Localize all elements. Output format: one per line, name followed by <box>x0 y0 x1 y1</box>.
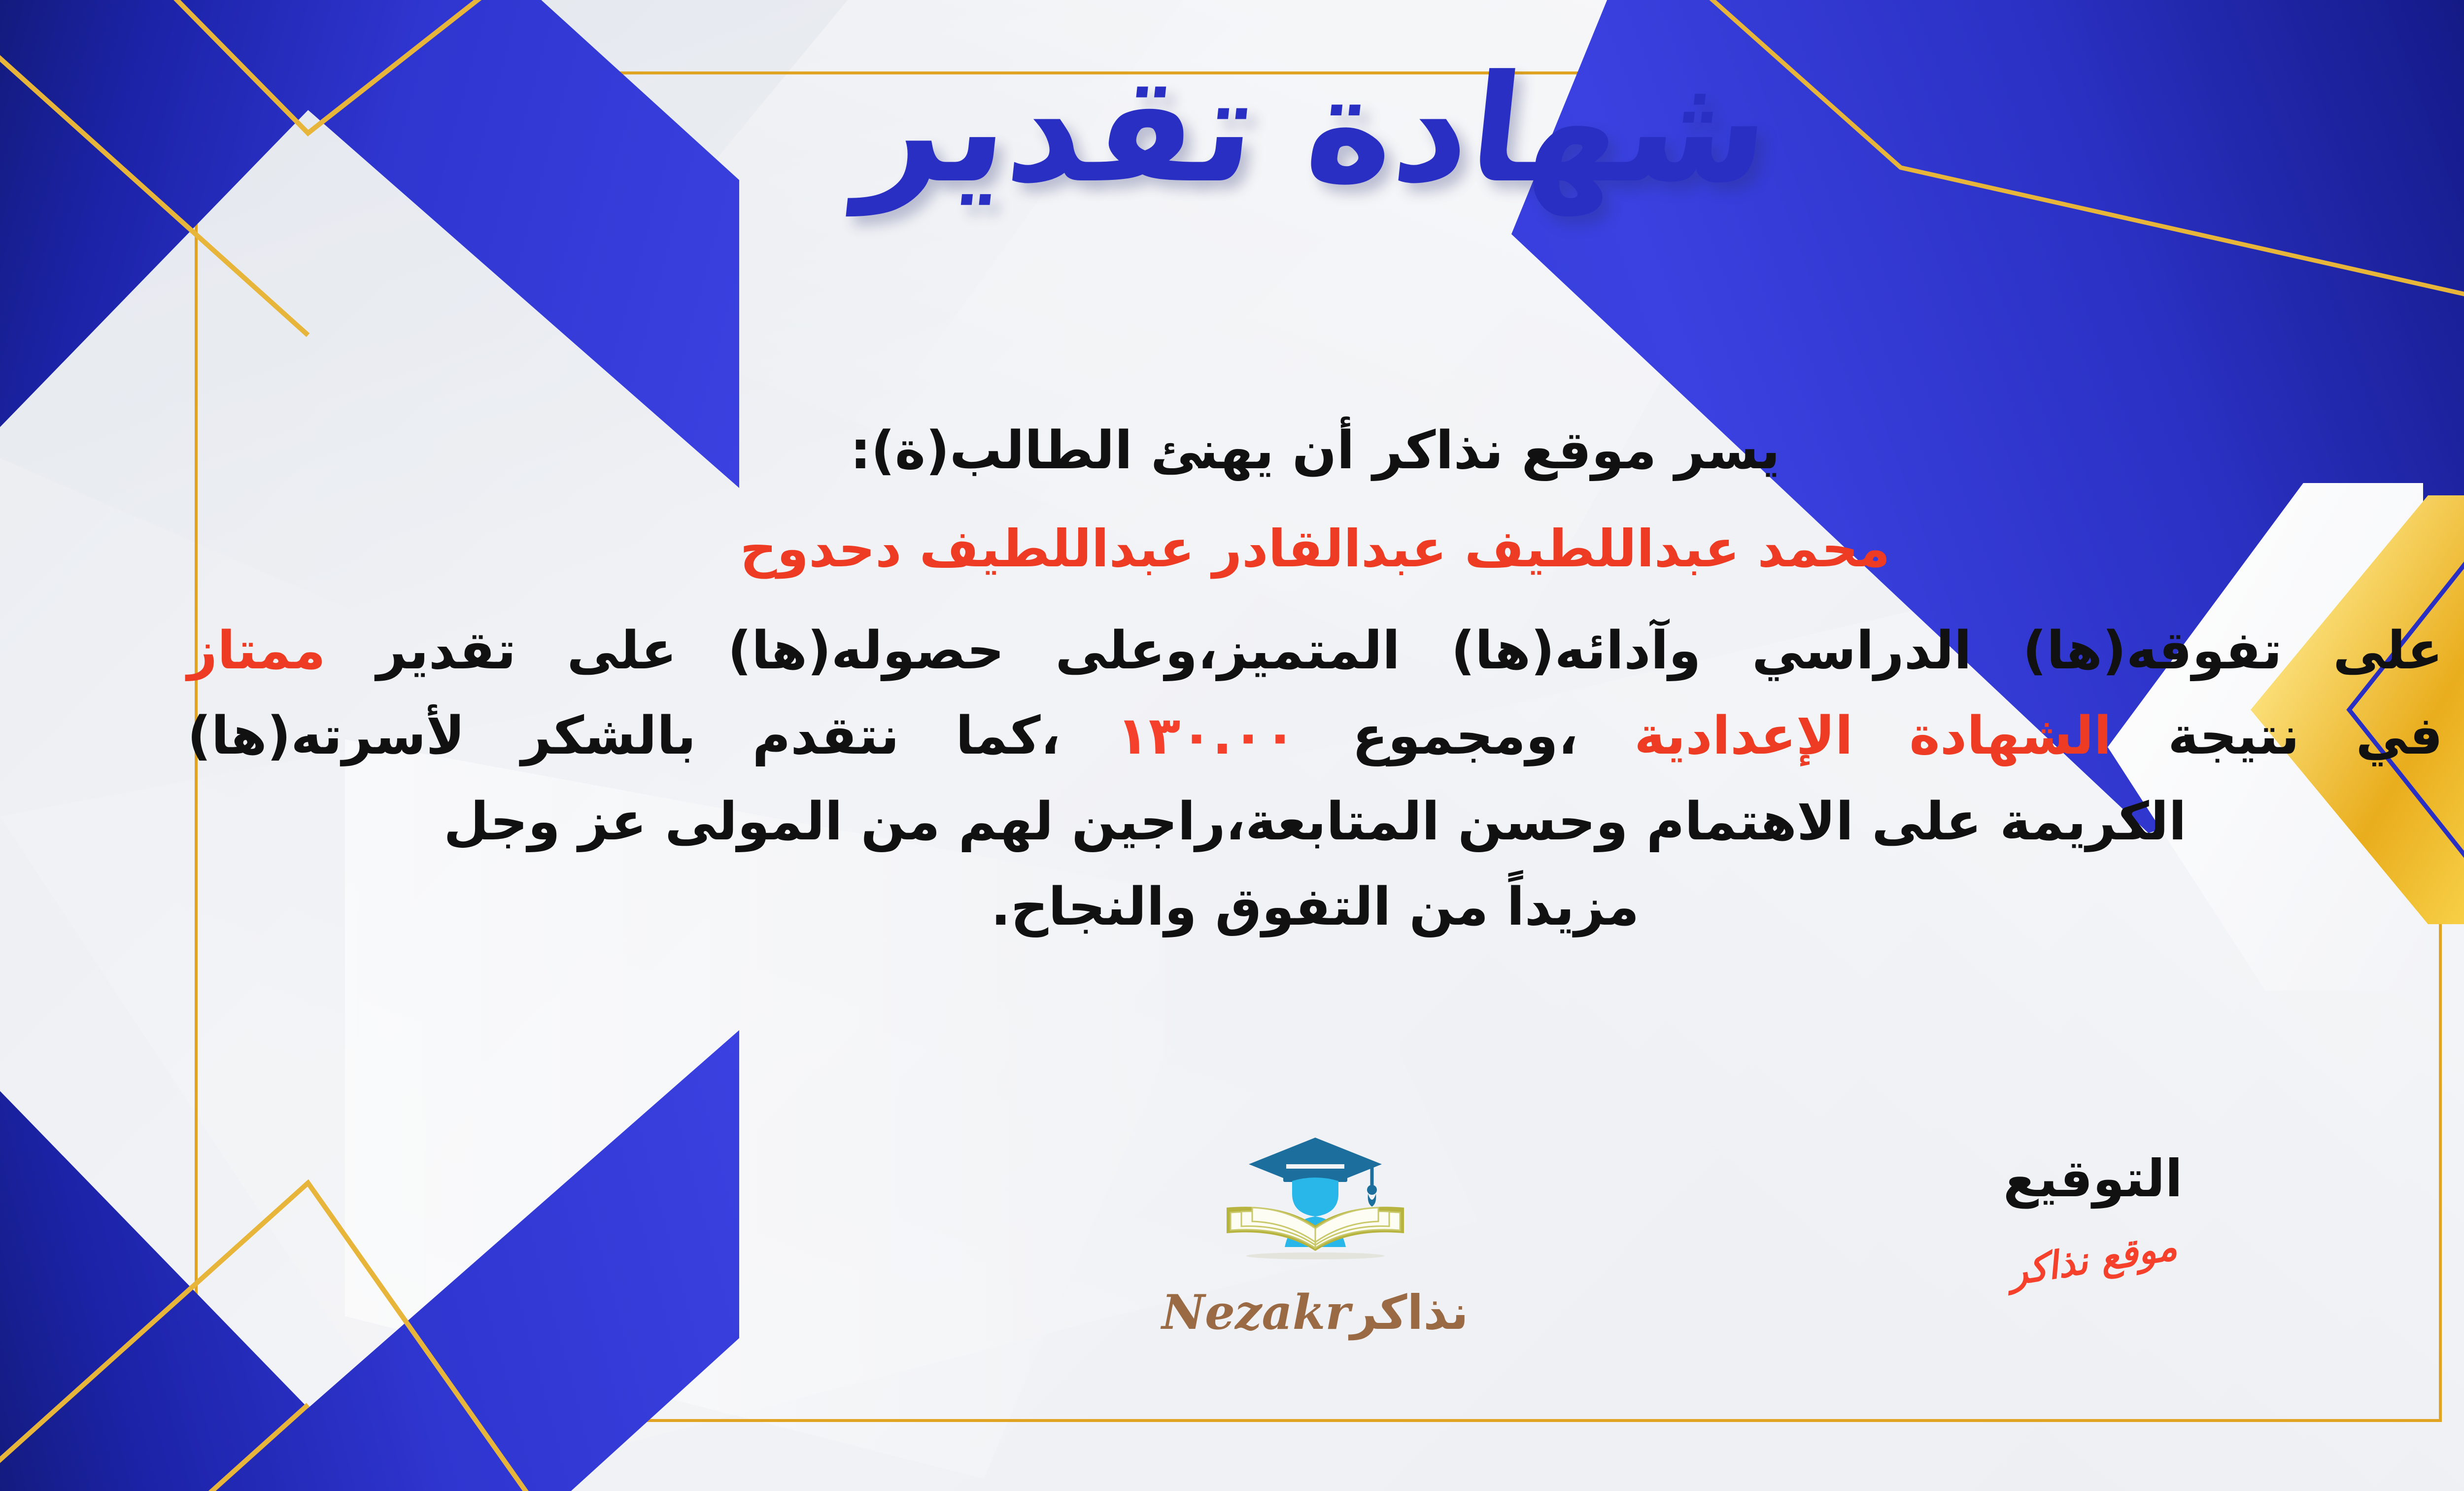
brand-logo: نذاكرNezakr <box>0 1134 2464 1340</box>
graduate-book-icon <box>1209 1134 1421 1282</box>
achievement-text: على تفوقه(ها) الدراسي وآدائه(ها) المتميز… <box>376 620 2443 681</box>
grade-value: ممتاز <box>187 620 326 681</box>
certificate-canvas: شهادة تقدير يسر موقع نذاكر أن يهنئ الطال… <box>0 0 2464 1491</box>
brand-name: نذاكرNezakr <box>1162 1284 1469 1340</box>
brand-name-arabic: نذاكر <box>1350 1285 1469 1340</box>
result-prefix: في نتيجة <box>2168 705 2443 766</box>
result-mid: ،ومجموع <box>1352 705 1578 766</box>
intro-line: يسر موقع نذاكر أن يهنئ الطالب(ة): <box>187 409 2443 491</box>
result-suffix: ،كما نتقدم بالشكر لأسرته(ها) <box>187 705 1061 766</box>
achievement-line: على تفوقه(ها) الدراسي وآدائه(ها) المتميز… <box>187 609 2443 692</box>
certificate-title: شهادة تقدير <box>0 47 2464 212</box>
thanks-line: الكريمة على الاهتمام وحسن المتابعة،راجين… <box>187 780 2443 863</box>
certificate-content: شهادة تقدير يسر موقع نذاكر أن يهنئ الطال… <box>0 0 2464 1491</box>
exam-name: الشهادة الإعدادية <box>1634 705 2112 766</box>
student-name: محمد عبداللطيف عبدالقادر عبداللطيف دحدوح <box>187 508 2443 589</box>
result-line: في نتيجة الشهادة الإعدادية ،ومجموع ١٣٠.٠… <box>187 694 2443 777</box>
brand-name-latin: Nezakr <box>1162 1284 1350 1340</box>
certificate-body: يسر موقع نذاكر أن يهنئ الطالب(ة): محمد ع… <box>187 409 2443 951</box>
closing-line: مزيداً من التفوق والنجاح. <box>187 866 2443 948</box>
total-score: ١٣٠.٠٠ <box>1117 705 1296 766</box>
